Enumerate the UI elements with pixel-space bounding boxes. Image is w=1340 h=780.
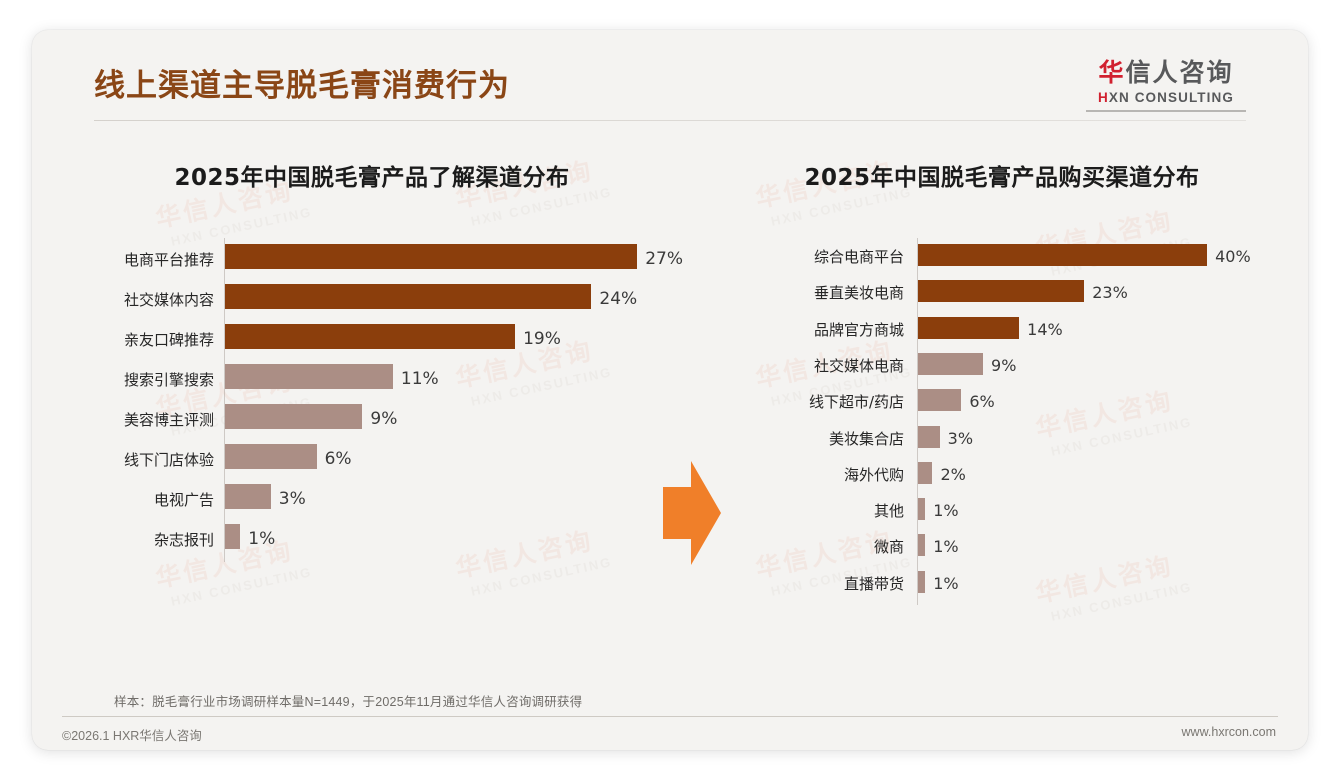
bar-value-label: 1% [933, 536, 958, 558]
watermark-english: HXN CONSULTING [469, 554, 613, 599]
bar [918, 353, 983, 375]
bar-value-label: 24% [599, 287, 637, 312]
bar [225, 524, 240, 549]
bar [918, 498, 925, 520]
bar-category-label: 社交媒体内容 [94, 288, 214, 313]
bar-category-label: 海外代购 [784, 464, 904, 486]
plot-area-awareness: 电商平台推荐27%社交媒体内容24%亲友口碑推荐19%搜索引擎搜索11%美容博主… [72, 192, 672, 532]
bar-category-label: 搜索引擎搜索 [94, 368, 214, 393]
logo-english-text: HXN CONSULTING [1086, 90, 1246, 105]
bar-value-label: 6% [969, 391, 994, 413]
bar-category-label: 美妆集合店 [784, 428, 904, 450]
bar [918, 571, 925, 593]
bar-category-label: 美容博主评测 [94, 408, 214, 433]
bar [918, 317, 1019, 339]
bar [225, 244, 637, 269]
bar-value-label: 1% [933, 500, 958, 522]
slide-footer: ©2026.1 HXR华信人咨询 www.hxrcon.com [32, 721, 1308, 750]
company-logo: 华信人咨询 HXN CONSULTING [1086, 58, 1246, 112]
bar [918, 534, 925, 556]
sample-footnote: 样本：脱毛膏行业市场调研样本量N=1449，于2025年11月通过华信人咨询调研… [114, 691, 582, 710]
logo-en-red-char: H [1098, 90, 1109, 105]
page-title: 线上渠道主导脱毛膏消费行为 [94, 60, 510, 105]
bar-value-label: 23% [1092, 282, 1128, 304]
bar-category-label: 综合电商平台 [784, 246, 904, 268]
bar-value-label: 2% [940, 464, 965, 486]
bar-value-label: 19% [523, 327, 561, 352]
bar-category-label: 其他 [784, 500, 904, 522]
bar-value-label: 3% [279, 487, 306, 512]
bar-value-label: 14% [1027, 319, 1063, 341]
logo-en-rest: XN CONSULTING [1109, 90, 1234, 105]
logo-cn-red-char: 华 [1098, 58, 1125, 87]
bar-category-label: 直播带货 [784, 573, 904, 595]
bar-category-label: 垂直美妆电商 [784, 282, 904, 304]
watermark-english: HXN CONSULTING [169, 564, 313, 609]
bar [225, 484, 271, 509]
bar-value-label: 6% [325, 447, 352, 472]
bar-category-label: 杂志报刊 [94, 528, 214, 553]
slide-card: 华信人咨询HXN CONSULTING华信人咨询HXN CONSULTING华信… [32, 30, 1308, 750]
plot-area-purchase: 综合电商平台40%垂直美妆电商23%品牌官方商城14%社交媒体电商9%线下超市/… [712, 192, 1292, 592]
bar-value-label: 9% [370, 407, 397, 432]
bar-category-label: 微商 [784, 536, 904, 558]
bar-value-label: 1% [248, 527, 275, 552]
website-url: www.hxrcon.com [1182, 725, 1276, 739]
bar-value-label: 27% [645, 247, 683, 272]
bar-category-label: 亲友口碑推荐 [94, 328, 214, 353]
bar-value-label: 3% [948, 428, 973, 450]
footer-divider [62, 716, 1278, 717]
bar-value-label: 11% [401, 367, 439, 392]
bar-value-label: 9% [991, 355, 1016, 377]
bar [225, 444, 317, 469]
logo-chinese-text: 华信人咨询 [1086, 58, 1246, 88]
bar [225, 324, 515, 349]
bar [918, 244, 1207, 266]
bar [918, 389, 961, 411]
copyright-text: ©2026.1 HXR华信人咨询 [62, 725, 202, 744]
bar-category-label: 线下门店体验 [94, 448, 214, 473]
bar-category-label: 电视广告 [94, 488, 214, 513]
chart-title-awareness: 2025年中国脱毛膏产品了解渠道分布 [72, 158, 672, 192]
logo-underline [1086, 110, 1246, 112]
bar-value-label: 1% [933, 573, 958, 595]
slide-header: 线上渠道主导脱毛膏消费行为 华信人咨询 HXN CONSULTING [32, 30, 1308, 121]
bar [225, 364, 393, 389]
bar [225, 404, 362, 429]
bar [225, 284, 591, 309]
bar-category-label: 电商平台推荐 [94, 248, 214, 273]
chart-purchase-channels: 2025年中国脱毛膏产品购买渠道分布 综合电商平台40%垂直美妆电商23%品牌官… [712, 158, 1292, 592]
bar-category-label: 品牌官方商城 [784, 319, 904, 341]
bar-category-label: 线下超市/药店 [784, 391, 904, 413]
right-arrow-icon [663, 461, 721, 565]
chart-awareness-channels: 2025年中国脱毛膏产品了解渠道分布 电商平台推荐27%社交媒体内容24%亲友口… [72, 158, 672, 532]
header-divider [94, 120, 1246, 121]
bar [918, 426, 940, 448]
bar-value-label: 40% [1215, 246, 1251, 268]
chart-title-purchase: 2025年中国脱毛膏产品购买渠道分布 [712, 158, 1292, 192]
logo-cn-rest: 信人咨询 [1126, 58, 1234, 87]
bar [918, 280, 1084, 302]
bar [918, 462, 932, 484]
bar-category-label: 社交媒体电商 [784, 355, 904, 377]
